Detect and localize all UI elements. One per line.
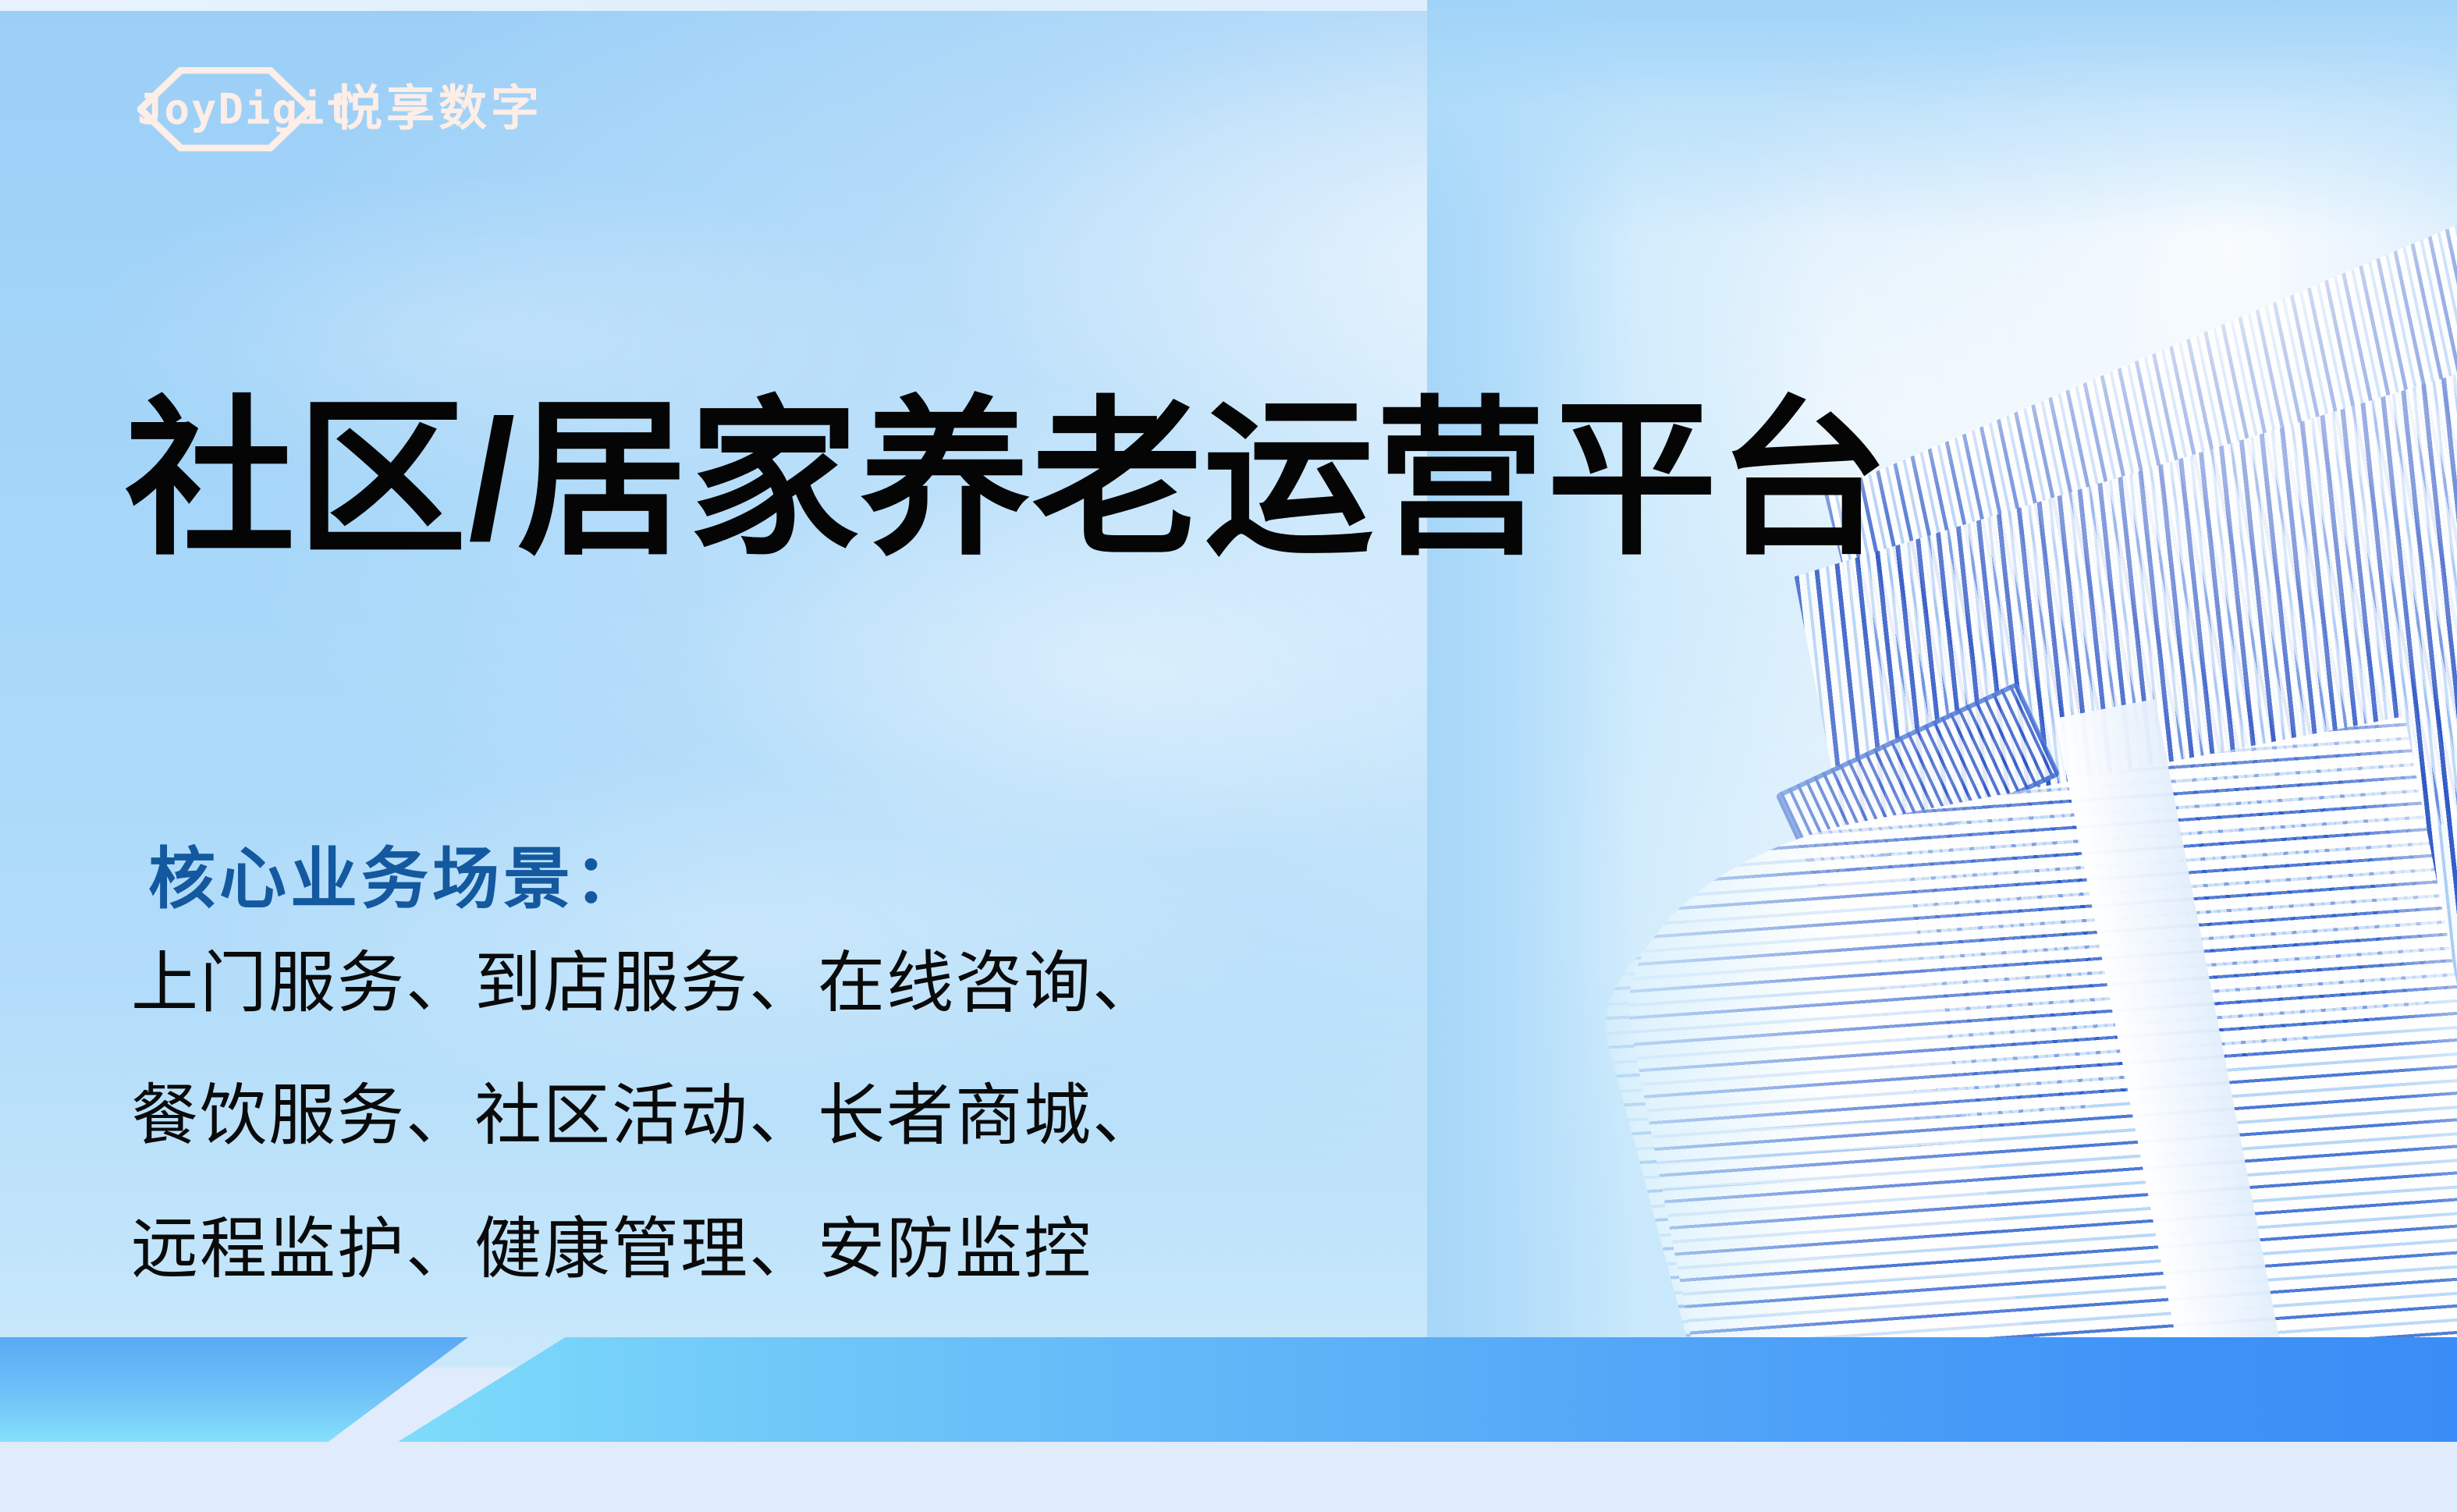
brand-logo[interactable]: JoyDigit 悦享数字	[137, 67, 543, 151]
logo-chinese-name: 悦享数字	[334, 85, 543, 133]
top-edge-strip	[0, 0, 2457, 11]
section-subtitle: 核心业务场景：	[148, 824, 645, 921]
footer-decoration-band	[0, 1325, 2457, 1512]
scenario-line: 上门服务、到店服务、在线咨询、	[131, 917, 1161, 1049]
logo-wordmark: JoyDigit	[137, 85, 314, 134]
slide-canvas: JoyDigit 悦享数字 社区/居家养老运营平台 核心业务场景： 上门服务、到…	[0, 0, 2457, 1512]
page-title: 社区/居家养老运营平台	[125, 389, 1891, 572]
business-scenario-list: 上门服务、到店服务、在线咨询、 餐饮服务、社区活动、长者商城、 远程监护、健康管…	[131, 917, 1161, 1315]
scenario-line: 远程监护、健康管理、安防监控	[131, 1183, 1161, 1315]
footer-parallelogram-right	[367, 1337, 2457, 1442]
scenario-line: 餐饮服务、社区活动、长者商城、	[131, 1049, 1161, 1182]
hexagon-outline-icon: JoyDigit	[137, 67, 314, 151]
